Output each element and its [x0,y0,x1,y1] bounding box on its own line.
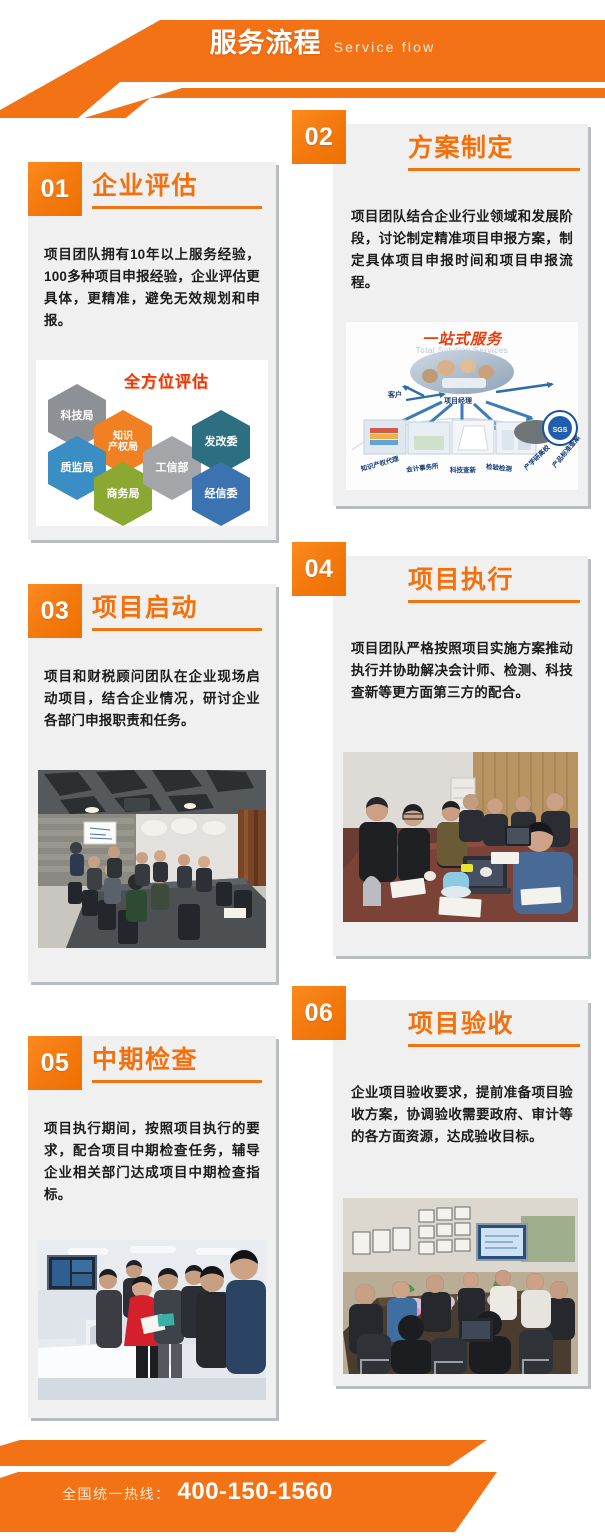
step-description-01: 项目团队拥有10年以上服务经验，100多种项目申报经验，企业评估更具体，更精准，… [44,244,260,331]
step-badge-03: 03 [28,584,82,638]
one-stop-service-image: 一站式服务 Total Solution Services [346,322,578,490]
title-underline-06 [408,1044,580,1047]
svg-text:SGS: SGS [553,427,568,434]
one-stop-footer-2: 科技查新 [450,464,476,474]
step-card-01[interactable]: 01 企业评估 项目团队拥有10年以上服务经验，100多种项目申报经验，企业评估… [14,148,276,540]
step-title-03: 项目启动 [92,596,262,621]
acceptance-meeting-photo-graphic [343,1198,578,1374]
hex-diagram: 全方位评估 科技局 知识产权局 质监局 商务局 工信部 发改委 经信委 [36,360,268,526]
hotline-group: 全国统一热线： 400-150-1560 [62,1478,333,1506]
page-header: 服务流程 Service flow [0,0,605,118]
step-card-04[interactable]: 04 项目执行 项目团队严格按照项目实施方案推动执行并协助解决会计师、检测、科技… [292,542,592,960]
hotline-label: 全国统一热线： [62,1484,171,1504]
step-description-02: 项目团队结合企业行业领域和发展阶段，讨论制定精准项目申报方案，制定具体项目申报时… [351,206,573,293]
showroom-visit-photo [38,1240,266,1400]
step-title-02: 方案制定 [408,136,580,161]
title-underline-03 [92,628,262,631]
step-badge-04: 04 [292,542,346,596]
one-stop-node-customer: 客户 [388,390,402,400]
page-title: 服务流程 [210,30,322,57]
step-card-02[interactable]: 02 方案制定 项目团队结合企业行业领域和发展阶段，讨论制定精准项目申报方案，制… [292,110,592,510]
step-description-06: 企业项目验收要求，提前准备项目验收方案，协调验收需要政府、审计等的各方面资源，达… [351,1082,573,1148]
step-heading-05: 中期检查 [92,1048,262,1083]
step-badge-05: 05 [28,1036,82,1090]
working-session-photo [343,752,578,922]
step-badge-01: 01 [28,162,82,216]
showroom-visit-photo-graphic [38,1240,266,1400]
step-badge-06: 06 [292,986,346,1040]
header-title-group: 服务流程 Service flow [0,30,605,57]
title-underline-01 [92,206,262,209]
step-description-05: 项目执行期间，按照项目执行的要求，配合项目中期检查任务，辅导企业相关部门达成项目… [44,1118,260,1205]
page-subtitle: Service flow [334,39,436,55]
title-underline-05 [92,1080,262,1083]
title-underline-02 [408,168,580,171]
hotline-number[interactable]: 400-150-1560 [178,1478,333,1506]
step-title-01: 企业评估 [92,174,262,199]
step-title-06: 项目验收 [408,1012,580,1037]
step-heading-02: 方案制定 [408,136,580,171]
step-title-05: 中期检查 [92,1048,262,1073]
meeting-room-photo [38,770,266,948]
step-description-04: 项目团队严格按照项目实施方案推动执行并协助解决会计师、检测、科技查新等更方面第三… [351,638,573,704]
working-session-photo-graphic [343,752,578,922]
hex-diagram-title: 全方位评估 [124,368,209,392]
step-badge-02: 02 [292,110,346,164]
acceptance-meeting-photo [343,1198,578,1374]
service-flow-page: 服务流程 Service flow 01 企业评估 项目团队拥有10年以上服务经… [0,0,605,1538]
step-heading-04: 项目执行 [408,568,580,603]
step-title-04: 项目执行 [408,568,580,593]
step-description-03: 项目和财税顾问团队在企业现场启动项目，结合企业情况，研讨企业各部门申报职责和任务… [44,666,260,732]
step-heading-01: 企业评估 [92,174,262,209]
step-card-06[interactable]: 06 项目验收 企业项目验收要求，提前准备项目验收方案，协调验收需要政府、审计等… [292,986,592,1390]
step-heading-03: 项目启动 [92,596,262,631]
step-heading-06: 项目验收 [408,1012,580,1047]
header-banner-shape [0,0,605,118]
step-card-05[interactable]: 05 中期检查 项目执行期间，按照项目执行的要求，配合项目中期检查任务，辅导企业… [14,1022,276,1418]
step-card-03[interactable]: 03 项目启动 项目和财税顾问团队在企业现场启动项目，结合企业情况，研讨企业各部… [14,570,276,982]
one-stop-node-manager: 项目经理 [444,396,472,406]
title-underline-04 [408,600,580,603]
meeting-room-photo-graphic [38,770,266,948]
